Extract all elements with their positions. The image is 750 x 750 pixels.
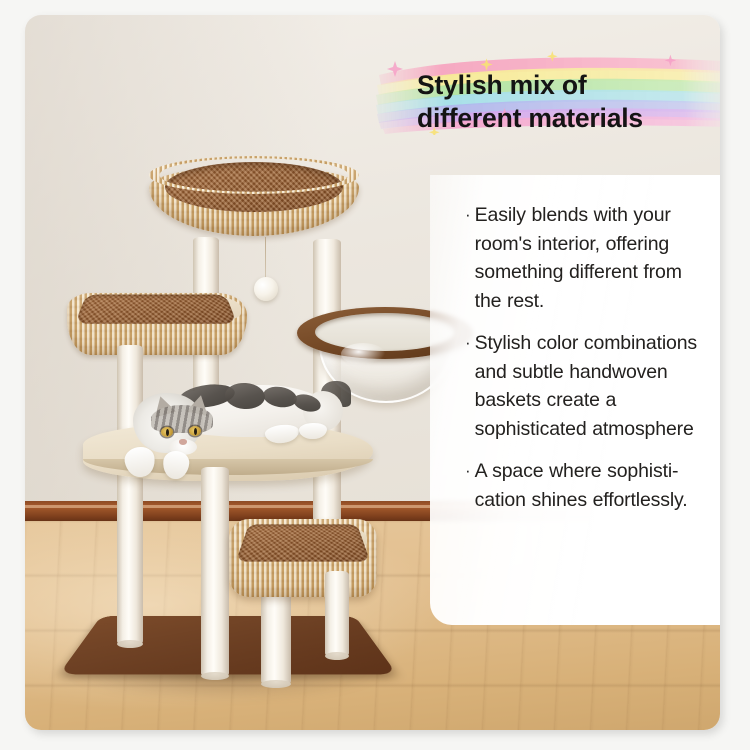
support-post-bottom-right [325, 571, 349, 657]
cat-pupil [166, 429, 169, 436]
bullet-line: baskets create a [475, 389, 616, 411]
mid-basket-mat [75, 294, 237, 323]
cat-forehead-markings [151, 405, 213, 433]
bullet-line: Easily blends with your [475, 204, 671, 226]
bullet-line: and subtle handwoven [475, 361, 668, 383]
bullet-text: A space where sophisti- cation shines ef… [475, 457, 688, 514]
bullet-marker: · [465, 457, 471, 486]
mid-left-rattan-platform [67, 283, 247, 363]
bullet-line: the rest. [475, 290, 545, 312]
headline-line-2: different materials [417, 102, 720, 135]
support-post-center [201, 467, 229, 677]
headline-block: Stylish mix of different materials [373, 43, 720, 158]
bullet-line: room's interior, offering [475, 233, 669, 255]
cat-paw [299, 423, 328, 440]
bullet-line: something different from [475, 261, 682, 283]
bullet-marker: · [465, 201, 471, 230]
bottom-basket-mat [236, 524, 371, 561]
cat-head [133, 393, 203, 453]
cat-pupil [194, 428, 197, 435]
bullet-text: Easily blends with your room's interior,… [475, 201, 682, 315]
list-item: · Stylish color combinations and subtle … [465, 329, 720, 443]
product-feature-card: · Easily blends with your room's interio… [25, 15, 720, 730]
top-oval-rattan-platform [149, 152, 359, 242]
pom-pom-string [265, 237, 266, 281]
bullet-line: cation shines effortlessly. [475, 489, 688, 511]
page-title: Stylish mix of different materials [417, 69, 720, 135]
list-item: · A space where sophisti- cation shines … [465, 457, 720, 514]
bullet-marker: · [465, 329, 471, 358]
bottom-rattan-platform [229, 507, 377, 607]
top-basket-rim [149, 156, 359, 194]
cat-eye-left [161, 427, 173, 437]
bullet-line: Stylish color combinations [475, 332, 697, 354]
cat-paw [162, 450, 191, 481]
list-item: · Easily blends with your room's interio… [465, 201, 720, 315]
bullet-line: A space where sophisti- [475, 460, 679, 482]
hanging-pom-pom-toy [254, 277, 278, 301]
cat-nose [179, 439, 187, 445]
screenshot-root: · Easily blends with your room's interio… [0, 0, 750, 750]
bullet-text: Stylish color combinations and subtle ha… [475, 329, 697, 443]
cat-eye-right [189, 426, 201, 436]
feature-bullet-list: · Easily blends with your room's interio… [465, 201, 720, 528]
headline-line-1: Stylish mix of [417, 69, 720, 102]
bowl-highlight [341, 343, 385, 365]
cat [117, 381, 343, 479]
bullet-line: sophisticated atmosphere [475, 418, 694, 440]
